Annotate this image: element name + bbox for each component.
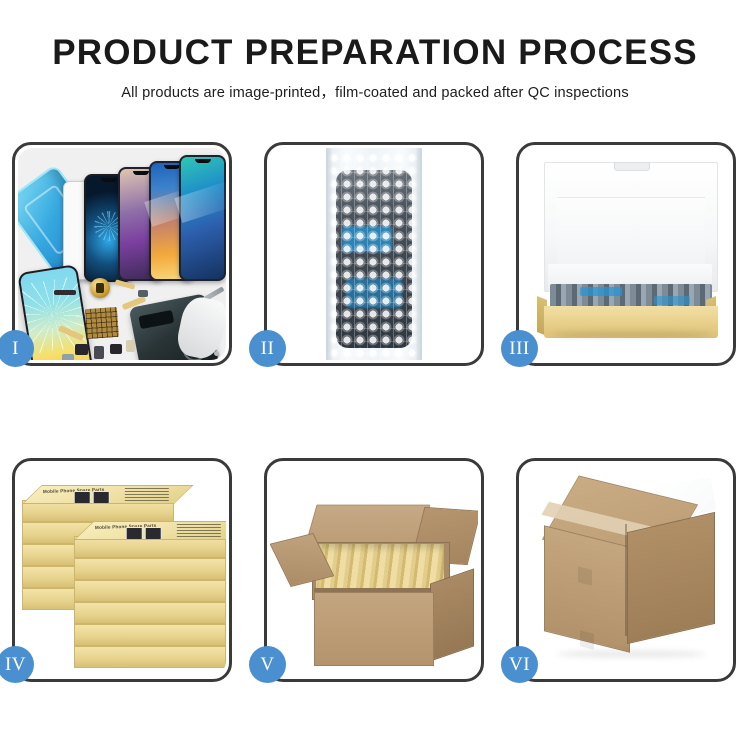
infographic-page: PRODUCT PREPARATION PROCESS All products…: [0, 0, 750, 750]
small-part-icon: [110, 344, 122, 354]
drop-shadow: [552, 331, 712, 338]
carton-edge-seam: [625, 524, 627, 636]
spare-parts-box: [74, 558, 226, 580]
carton-handle-tab: [580, 630, 594, 649]
notch-icon: [164, 165, 180, 169]
box-spec-text-block: [177, 524, 221, 537]
box-top-face: Mobile Phone Spare Parts: [74, 521, 226, 540]
bubble-wrap-texture: [328, 152, 420, 360]
drop-shadow: [556, 650, 706, 658]
step-6-image: [522, 464, 730, 676]
step-5-image: [270, 464, 478, 676]
small-part-icon: [126, 340, 135, 352]
small-part-icon: [62, 354, 74, 360]
step-4-image: Mobile Phone Spare Parts Mobil: [18, 464, 226, 676]
box-top-face: Mobile Phone Spare Parts: [22, 485, 194, 504]
carton-front-panel: [314, 592, 434, 666]
step-3-image: [522, 148, 730, 360]
process-step-1: I: [12, 142, 232, 366]
header: PRODUCT PREPARATION PROCESS All products…: [0, 34, 750, 102]
box-phone-graphic: [74, 491, 91, 504]
process-step-6: VI: [516, 458, 736, 682]
spare-parts-box: [74, 602, 226, 624]
packed-retail-boxes: [316, 544, 444, 594]
spare-parts-box: [74, 624, 226, 646]
box-phone-graphic: [93, 491, 110, 504]
step-badge-1: I: [0, 330, 34, 367]
process-step-2: II: [264, 142, 484, 366]
small-part-icon: [75, 344, 88, 355]
page-title: PRODUCT PREPARATION PROCESS: [0, 34, 750, 72]
phone-screen-teal: [179, 155, 226, 281]
notch-icon: [133, 171, 149, 175]
step-1-image: [18, 148, 226, 360]
process-step-5: V: [264, 458, 484, 682]
page-subtitle: All products are image-printed，film-coat…: [0, 81, 750, 102]
step-badge-3: III: [501, 330, 538, 367]
box-phone-graphic: [145, 527, 162, 540]
sleeve-edge-left: [326, 148, 333, 360]
screw-icon: [214, 351, 219, 356]
spare-parts-box: Mobile Phone Spare Parts: [22, 500, 174, 522]
carton-handle-tab: [578, 566, 592, 585]
box-phone-graphic: [126, 527, 143, 540]
process-step-4: Mobile Phone Spare Parts Mobil: [12, 458, 232, 682]
screw-icon: [223, 358, 226, 360]
spare-parts-box: [74, 646, 226, 668]
notch-icon: [101, 178, 117, 182]
step-badge-6: VI: [501, 646, 538, 683]
chip-component-icon: [85, 307, 119, 339]
step-badge-4: IV: [0, 646, 34, 683]
sleeve-edge-right: [415, 148, 422, 360]
small-part-icon: [138, 290, 148, 297]
step-badge-5: V: [249, 646, 286, 683]
flex-cable-icon: [54, 290, 76, 295]
spare-parts-box: [74, 580, 226, 602]
small-part-icon: [94, 346, 104, 359]
carton-side-panel: [430, 568, 474, 661]
step-badge-2: II: [249, 330, 286, 367]
speaker-component-icon: [90, 278, 110, 298]
process-step-grid: I II III: [12, 142, 738, 682]
process-step-3: III: [516, 142, 736, 366]
step-2-image: [270, 148, 478, 360]
notch-icon: [195, 159, 211, 163]
carton-right-face: [627, 512, 715, 644]
box-spec-text-block: [125, 488, 169, 501]
spare-parts-box: Mobile Phone Spare Parts: [74, 536, 226, 558]
